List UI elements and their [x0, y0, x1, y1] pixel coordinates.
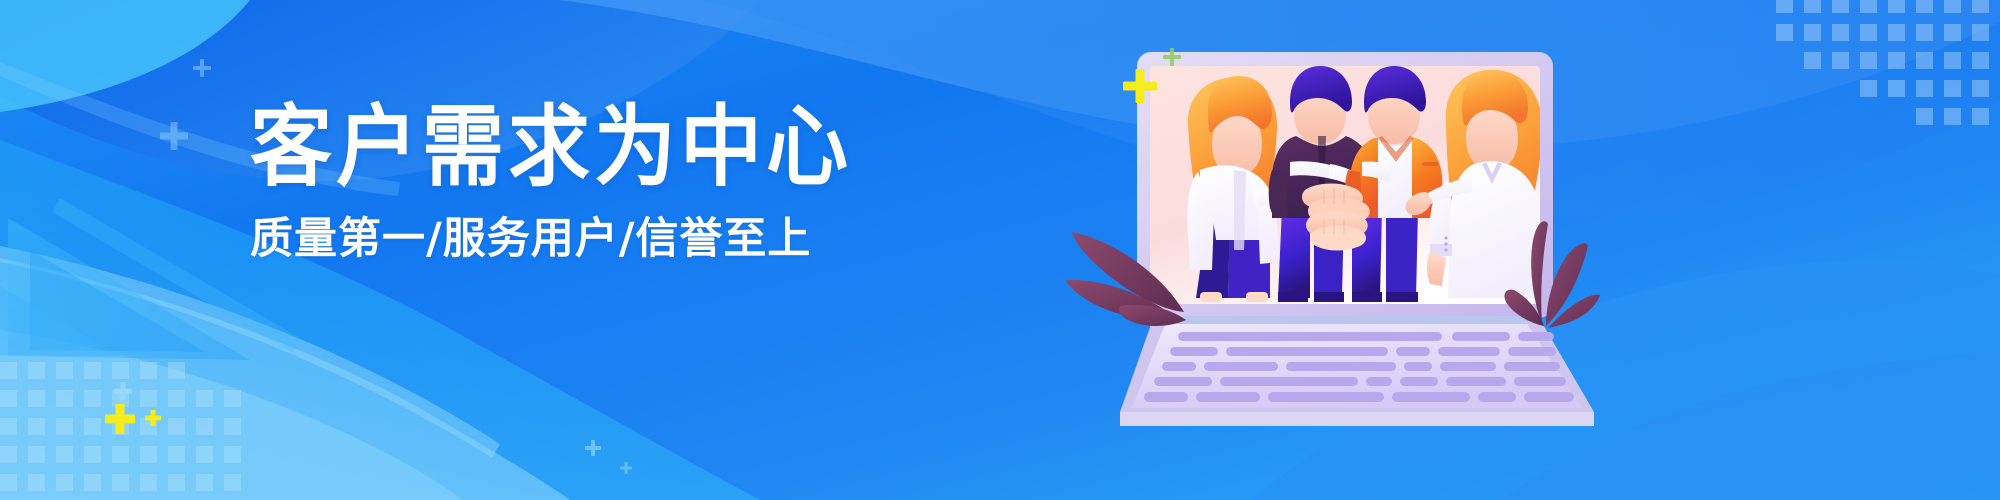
promo-banner: 客户需求为中心 质量第一/服务用户/信誉至上 — [0, 0, 2000, 500]
plus-yellow-bottom-left-small-icon — [145, 410, 161, 426]
plus-cyan-bottom-left-icon — [114, 382, 132, 400]
plus-light-mid-left-icon — [160, 122, 188, 150]
page-title: 客户需求为中心 — [250, 104, 810, 193]
stacked-hands — [1302, 184, 1370, 251]
plus-green-top-right-small-icon — [1163, 48, 1181, 66]
plus-yellow-top-right-icon — [1123, 69, 1157, 103]
team-group — [1187, 66, 1542, 302]
plus-light-upper-left-icon — [193, 59, 211, 77]
plus-yellow-bottom-left-icon — [105, 404, 135, 434]
plus-light-bottom-mid-icon — [585, 440, 601, 456]
page-subtitle: 质量第一/服务用户/信誉至上 — [250, 218, 810, 261]
plus-light-bottom-mid-2-icon — [620, 462, 632, 474]
laptop-team-illustration — [1130, 40, 1600, 460]
headline-text-block: 客户需求为中心 质量第一/服务用户/信誉至上 — [250, 104, 810, 261]
